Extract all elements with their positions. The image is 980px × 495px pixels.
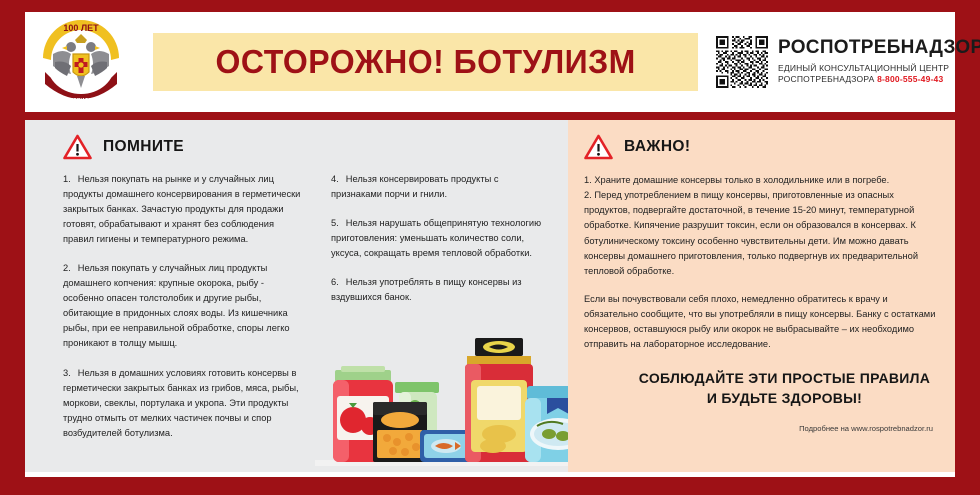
cta-line-1: СОБЛЮДАЙТЕ ЭТИ ПРОСТЫЕ ПРАВИЛА xyxy=(614,368,955,388)
item-text: Нельзя употреблять в пищу консервы из вз… xyxy=(331,277,522,302)
brand-name: РОСПОТРЕБНАДЗОР xyxy=(778,38,980,59)
item-number: 3. xyxy=(63,368,71,378)
remember-column-b: 4.Нельзя консервировать продукты с призн… xyxy=(315,172,568,455)
brand-text-block: РОСПОТРЕБНАДЗОР ЕДИНЫЙ КОНСУЛЬТАЦИОННЫЙ … xyxy=(778,38,980,86)
list-item: 1.Нельзя покупать на рынке и у случайных… xyxy=(63,172,301,247)
item-text: Нельзя покупать на рынке и у случайных л… xyxy=(63,174,300,244)
item-text: Нельзя консервировать продукты с признак… xyxy=(331,174,499,199)
consult-centre-line1: ЕДИНЫЙ КОНСУЛЬТАЦИОННЫЙ ЦЕНТР xyxy=(778,63,980,74)
call-to-action: СОБЛЮДАЙТЕ ЭТИ ПРОСТЫЕ ПРАВИЛА И БУДЬТЕ … xyxy=(568,368,955,409)
list-item: 2.Нельзя покупать у случайных лиц продук… xyxy=(63,261,301,351)
brand-block: РОСПОТРЕБНАДЗОР ЕДИНЫЙ КОНСУЛЬТАЦИОННЫЙ … xyxy=(716,36,980,88)
cta-line-2: И БУДЬТЕ ЗДОРОВЫ! xyxy=(614,388,955,408)
bottom-white-strip xyxy=(25,472,955,477)
list-item: 6.Нельзя употреблять в пищу консервы из … xyxy=(331,275,552,305)
remember-heading-row: ПОМНИТЕ xyxy=(63,134,568,160)
item-number: 6. xyxy=(331,277,339,287)
warning-triangle-icon xyxy=(63,134,92,160)
important-heading: ВАЖНО! xyxy=(624,138,690,156)
more-info-link[interactable]: Подробнее на www.rospotrebnadzor.ru xyxy=(799,424,933,433)
remember-column-a: 1.Нельзя покупать на рынке и у случайных… xyxy=(25,172,315,455)
consult-centre-org: РОСПОТРЕБНАДЗОРА xyxy=(778,74,875,84)
title-banner: ОСТОРОЖНО! БОТУЛИЗМ xyxy=(153,33,698,91)
important-note: Если вы почувствовали себя плохо, немедл… xyxy=(568,292,955,353)
list-item: 2. Перед употреблением в пищу консервы, … xyxy=(568,188,955,279)
important-heading-row: ВАЖНО! xyxy=(584,134,955,160)
emblem-bottom-text: ГОССАНЭПИДСЛУЖБА xyxy=(51,98,110,104)
item-text: Нельзя в домашних условиях готовить конс… xyxy=(63,368,299,438)
important-list: 1. Храните домашние консервы только в хо… xyxy=(568,173,955,353)
consult-centre-line2: РОСПОТРЕБНАДЗОРА 8-800-555-49-43 xyxy=(778,74,980,85)
item-text: Нельзя нарушать общепринятую технологию … xyxy=(331,218,541,258)
item-number: 2. xyxy=(63,263,71,273)
page-title: ОСТОРОЖНО! БОТУЛИЗМ xyxy=(215,43,635,81)
remember-panel: ПОМНИТЕ 1.Нельзя покупать на рынке и у с… xyxy=(25,120,568,472)
list-item: 4.Нельзя консервировать продукты с призн… xyxy=(331,172,552,202)
warning-triangle-icon xyxy=(584,134,613,160)
item-number: 5. xyxy=(331,218,339,228)
hotline-phone[interactable]: 8-800-555-49-43 xyxy=(877,74,943,84)
emblem-top-text: 100 ЛЕТ xyxy=(63,23,99,33)
qr-code-icon[interactable] xyxy=(716,36,768,88)
important-panel: ВАЖНО! 1. Храните домашние консервы толь… xyxy=(568,120,955,472)
poster-root: 100 ЛЕТ ГОССАНЭПИДСЛУЖБА ОСТОРОЖНО! БОТУ… xyxy=(0,0,980,495)
remember-columns: 1.Нельзя покупать на рынке и у случайных… xyxy=(25,172,568,455)
remember-heading: ПОМНИТЕ xyxy=(103,138,184,156)
item-number: 4. xyxy=(331,174,339,184)
list-item: 1. Храните домашние консервы только в хо… xyxy=(568,173,955,188)
item-text: Нельзя покупать у случайных лиц продукты… xyxy=(63,263,290,348)
list-item: 3.Нельзя в домашних условиях готовить ко… xyxy=(63,366,301,441)
rospotrebnadzor-emblem-icon: 100 ЛЕТ ГОССАНЭПИДСЛУЖБА xyxy=(33,14,129,110)
item-number: 1. xyxy=(63,174,71,184)
header-bar: 100 ЛЕТ ГОССАНЭПИДСЛУЖБА ОСТОРОЖНО! БОТУ… xyxy=(25,12,955,112)
list-item: 5.Нельзя нарушать общепринятую технологи… xyxy=(331,216,552,261)
